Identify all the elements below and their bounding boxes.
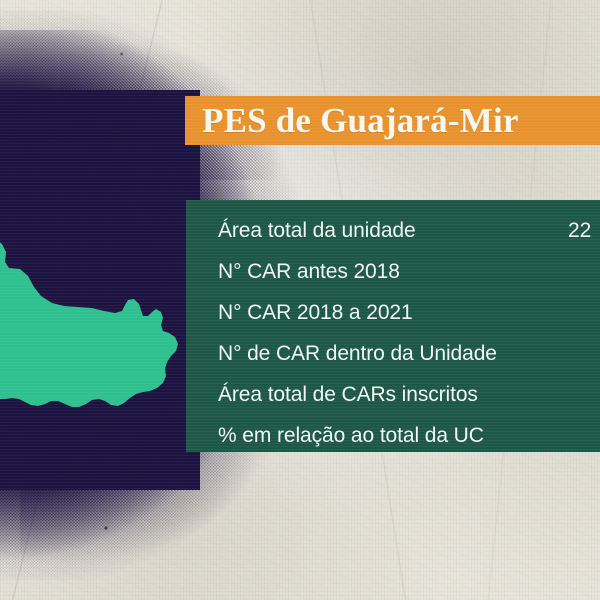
statistics-row-list: Área total da unidade 22 N° CAR antes 20… — [186, 200, 600, 452]
table-row: N° CAR antes 2018 — [186, 251, 600, 292]
title-banner: PES de Guajará-Mir — [185, 96, 600, 145]
page-title: PES de Guajará-Mir — [185, 103, 519, 138]
stat-value: 22 — [568, 219, 591, 243]
table-row: N° de CAR dentro da Unidade — [186, 333, 600, 374]
table-row: N° CAR 2018 a 2021 — [186, 292, 600, 333]
map-shape-main-protected-area — [0, 232, 178, 407]
stat-label: N° CAR antes 2018 — [186, 260, 400, 284]
stat-label: Área total da unidade — [186, 219, 416, 243]
stat-label: % em relação ao total da UC — [186, 424, 484, 448]
stat-label: N° de CAR dentro da Unidade — [186, 342, 497, 366]
stat-label: Área total de CARs inscritos — [186, 383, 478, 407]
table-row: % em relação ao total da UC — [186, 415, 600, 452]
infographic-poster: PES de Guajará-Mir Área total da unidade… — [0, 0, 600, 600]
statistics-panel: Área total da unidade 22 N° CAR antes 20… — [186, 200, 600, 452]
table-row: Área total da unidade 22 — [186, 210, 600, 251]
table-row: Área total de CARs inscritos — [186, 374, 600, 415]
stat-label: N° CAR 2018 a 2021 — [186, 301, 413, 325]
